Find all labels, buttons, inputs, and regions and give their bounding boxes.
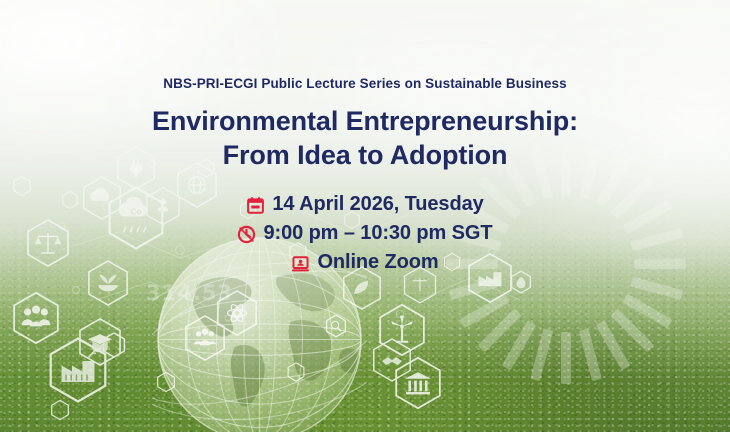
event-banner: Co	[0, 0, 730, 432]
clock-icon	[237, 225, 256, 244]
calendar-icon	[246, 196, 265, 215]
event-time-text: 9:00 pm – 10:30 pm SGT	[263, 219, 492, 248]
banner-content: NBS-PRI-ECGI Public Lecture Series on Su…	[0, 76, 730, 277]
event-venue-row: Online Zoom	[0, 248, 730, 277]
event-details: 14 April 2026, Tuesday 9:00 pm – 10:30 p…	[0, 190, 730, 277]
title-line-2: From Idea to Adoption	[0, 138, 730, 172]
lecture-series-label: NBS-PRI-ECGI Public Lecture Series on Su…	[0, 76, 730, 92]
event-venue-text: Online Zoom	[317, 248, 438, 277]
page-title: Environmental Entrepreneurship: From Ide…	[0, 104, 730, 172]
svg-text:314.53: 314.53	[146, 281, 233, 305]
event-time-row: 9:00 pm – 10:30 pm SGT	[0, 219, 730, 248]
event-date-row: 14 April 2026, Tuesday	[0, 190, 730, 219]
webinar-screen-icon	[291, 254, 310, 273]
event-date-text: 14 April 2026, Tuesday	[272, 190, 483, 219]
title-line-1: Environmental Entrepreneurship:	[0, 104, 730, 138]
